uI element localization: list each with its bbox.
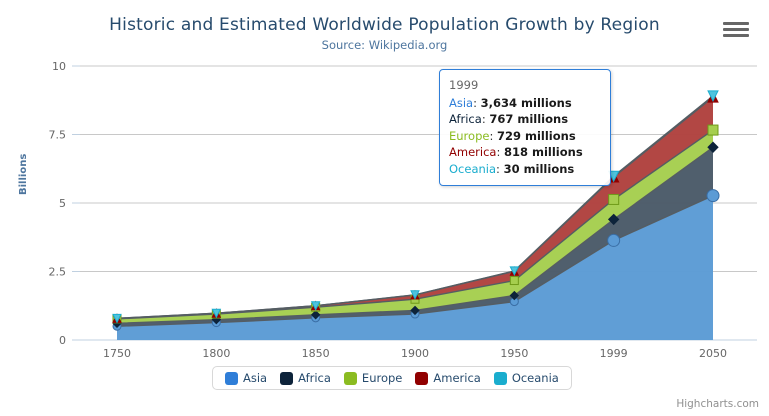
y-tick-label: 10 xyxy=(52,60,66,73)
y-tick-label: 2.5 xyxy=(49,266,67,279)
chart-legend[interactable]: AsiaAfricaEuropeAmericaOceania xyxy=(212,366,572,390)
x-tick-label: 1850 xyxy=(302,347,330,360)
tooltip-series-name: Oceania xyxy=(449,162,496,176)
tooltip-series-name: Africa xyxy=(449,112,482,126)
diamond-icon xyxy=(280,372,293,385)
highcharts-container: Historic and Estimated Worldwide Populat… xyxy=(0,0,769,416)
triangle-up-icon xyxy=(415,372,428,385)
legend-label: Asia xyxy=(243,371,267,385)
circle-icon xyxy=(225,372,238,385)
tooltip-rows: Asia: 3,634 millionsAfrica: 767 millions… xyxy=(449,95,601,178)
marker-europe-1999[interactable] xyxy=(609,194,619,204)
square-icon xyxy=(344,372,357,385)
legend-label: Europe xyxy=(362,371,402,385)
marker-europe-2050[interactable] xyxy=(708,125,718,135)
tooltip-series-name: America xyxy=(449,145,496,159)
tooltip-series-value: 767 millions xyxy=(489,112,568,126)
triangle-down-icon xyxy=(494,372,507,385)
x-tick-label: 1950 xyxy=(500,347,528,360)
tooltip-header: 1999 xyxy=(449,77,601,94)
tooltip-series-value: 729 millions xyxy=(497,129,576,143)
x-tick-label: 1900 xyxy=(401,347,429,360)
tooltip-series-name: Europe xyxy=(449,129,489,143)
tooltip-row: Europe: 729 millions xyxy=(449,128,601,145)
credits-link[interactable]: Highcharts.com xyxy=(676,398,759,410)
tooltip-separator: : xyxy=(473,96,481,110)
legend-item-africa[interactable]: Africa xyxy=(276,371,335,385)
x-tick-label: 1800 xyxy=(202,347,230,360)
marker-asia-2050[interactable] xyxy=(707,190,719,202)
tooltip-series-value: 3,634 millions xyxy=(481,96,572,110)
y-tick-label: 0 xyxy=(59,334,66,347)
tooltip-row: Oceania: 30 millions xyxy=(449,161,601,178)
tooltip-series-value: 818 millions xyxy=(504,145,583,159)
plot-area: 02.557.510 1750180018501900195019992050 xyxy=(0,0,769,416)
tooltip-separator: : xyxy=(496,145,504,159)
legend-item-oceania[interactable]: Oceania xyxy=(490,371,563,385)
tooltip-series-name: Asia xyxy=(449,96,473,110)
tooltip-separator: : xyxy=(489,129,497,143)
x-tick-label: 1999 xyxy=(600,347,628,360)
y-axis-title: Billions xyxy=(18,154,29,195)
legend-label: Oceania xyxy=(512,371,559,385)
chart-tooltip: 1999 Asia: 3,634 millionsAfrica: 767 mil… xyxy=(439,69,611,186)
y-axis-ticks: 02.557.510 xyxy=(49,60,81,347)
legend-item-europe[interactable]: Europe xyxy=(340,371,406,385)
tooltip-row: Africa: 767 millions xyxy=(449,111,601,128)
legend-label: Africa xyxy=(298,371,331,385)
x-axis-ticks: 1750180018501900195019992050 xyxy=(103,347,727,360)
y-tick-label: 5 xyxy=(59,197,66,210)
tooltip-series-value: 30 millions xyxy=(504,162,575,176)
tooltip-row: America: 818 millions xyxy=(449,144,601,161)
y-tick-label: 7.5 xyxy=(49,129,67,142)
x-tick-label: 2050 xyxy=(699,347,727,360)
marker-asia-1999[interactable] xyxy=(608,234,620,246)
legend-label: America xyxy=(433,371,480,385)
legend-item-america[interactable]: America xyxy=(411,371,484,385)
marker-europe-1950[interactable] xyxy=(510,277,518,285)
x-tick-label: 1750 xyxy=(103,347,131,360)
tooltip-row: Asia: 3,634 millions xyxy=(449,95,601,112)
tooltip-separator: : xyxy=(496,162,504,176)
legend-item-asia[interactable]: Asia xyxy=(221,371,271,385)
